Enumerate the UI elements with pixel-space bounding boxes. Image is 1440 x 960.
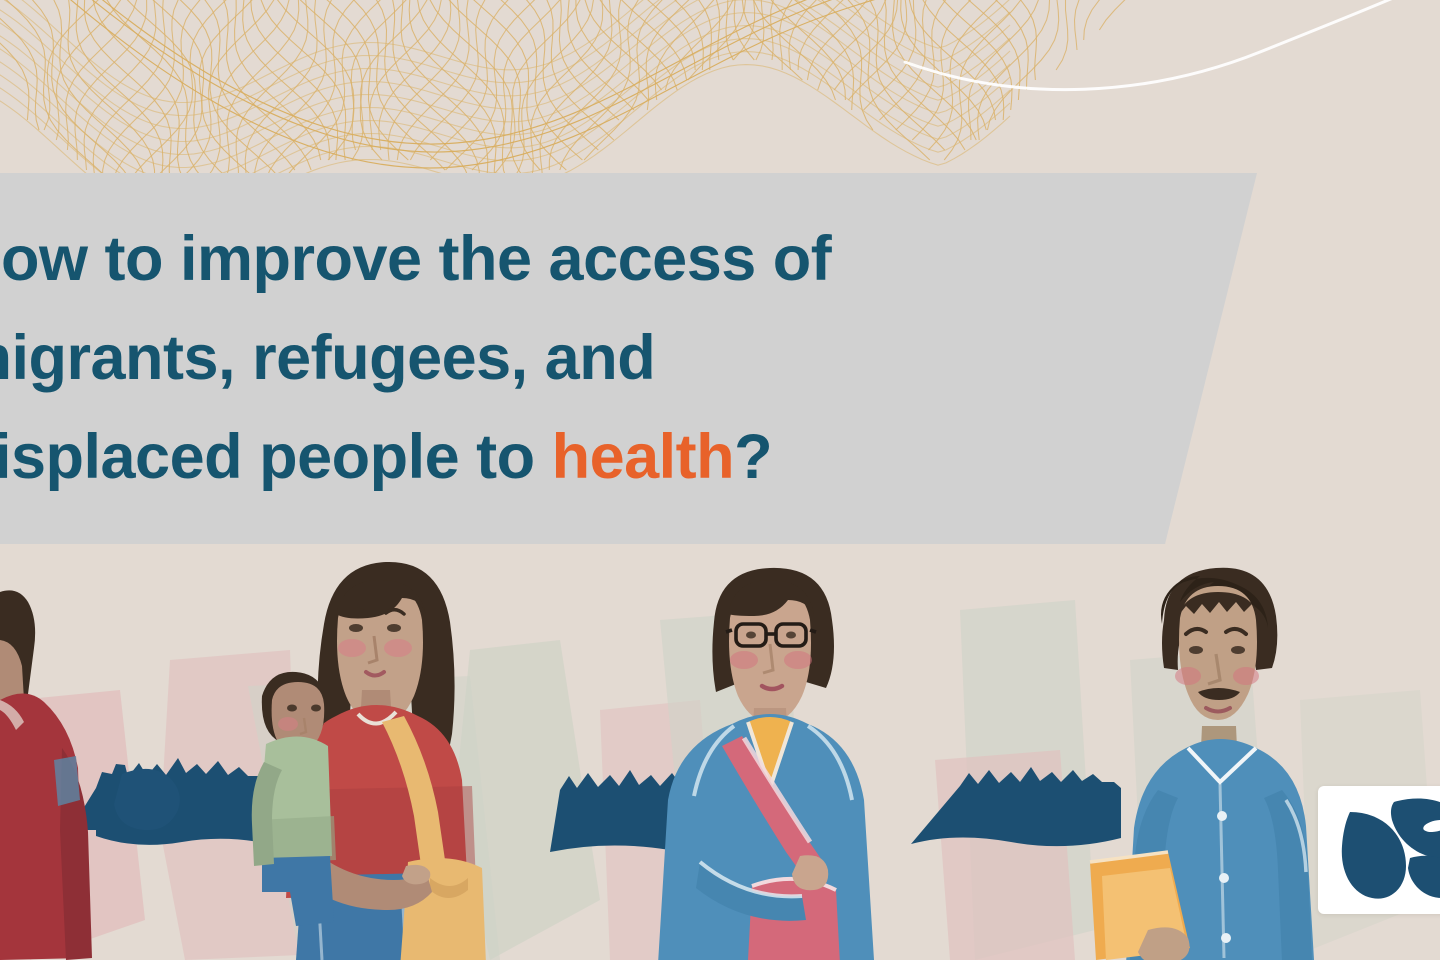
- poster-canvas: How to improve the access of migrants, r…: [0, 0, 1440, 960]
- headline-accent-health: health: [552, 422, 735, 492]
- headline-line-3-prefix: displaced people to: [0, 422, 552, 492]
- headline-line-1: How to improve the access of: [0, 210, 1076, 309]
- top-decorative-pattern: [0, 0, 1440, 195]
- headline-line-3: displaced people to health?: [0, 408, 1076, 507]
- logo-badge[interactable]: [1318, 786, 1440, 914]
- headline-line-2: migrants, refugees, and: [0, 309, 1076, 408]
- headline-line-3-suffix: ?: [734, 422, 772, 492]
- page-title: How to improve the access of migrants, r…: [0, 210, 1076, 507]
- white-swoosh-curve-icon: [905, 0, 1440, 90]
- who-emblem-logo-icon: [1332, 794, 1440, 906]
